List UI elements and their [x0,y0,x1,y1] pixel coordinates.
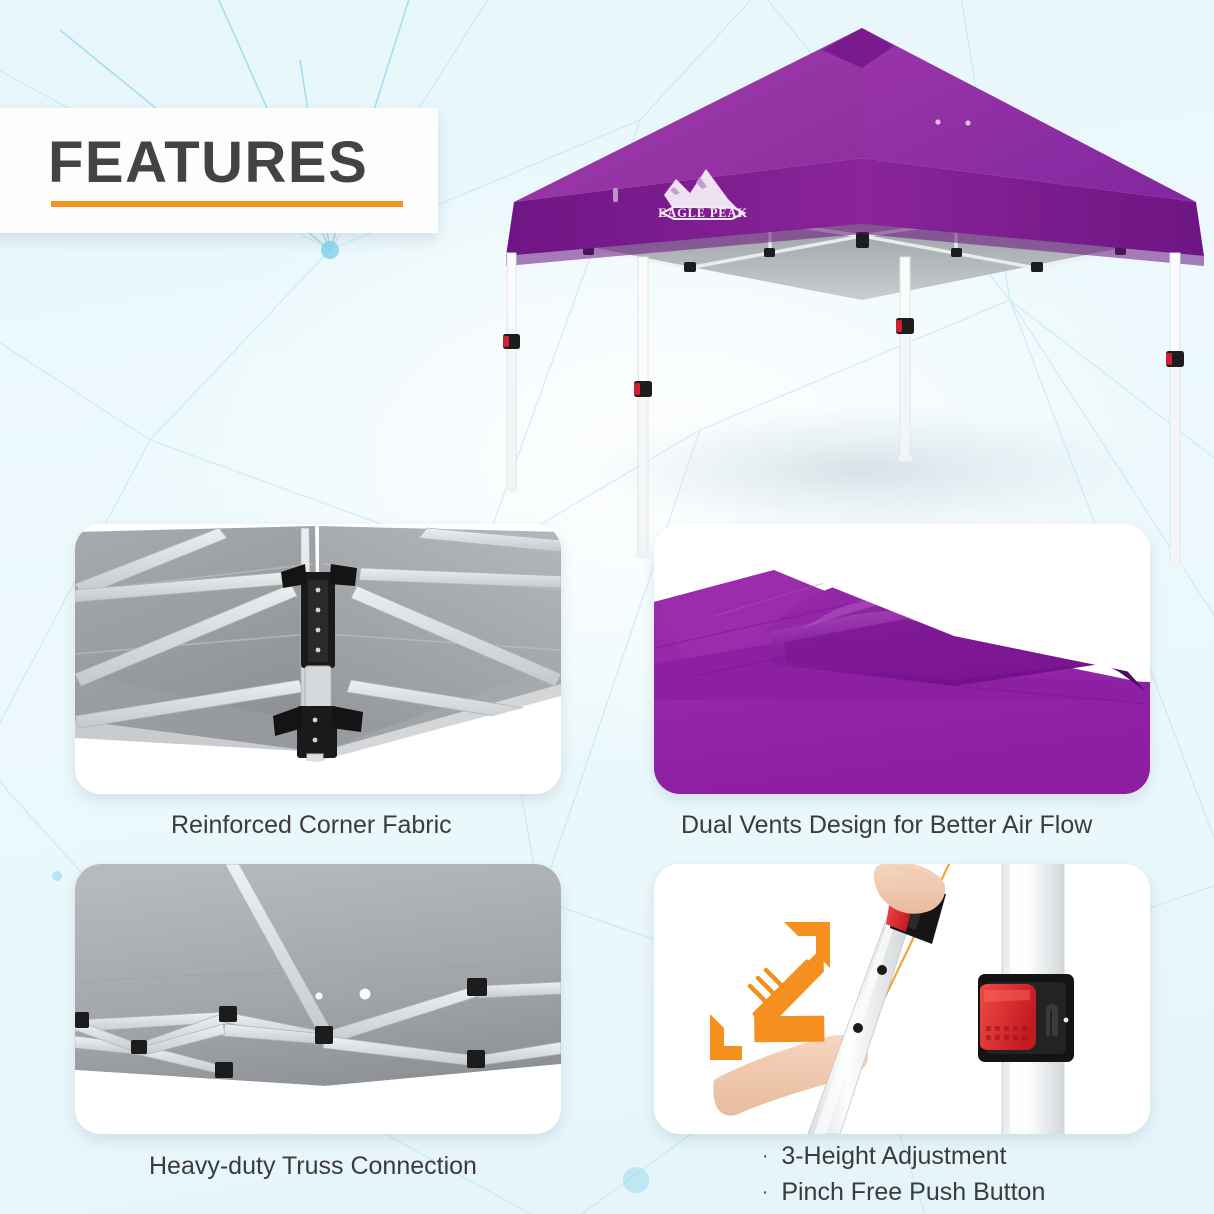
bullet-item: · Pinch Free Push Button [762,1175,1045,1211]
feature-panel-reinforced-corner [75,524,561,794]
leg-front-right [1166,253,1184,570]
bullet-label: 3-Height Adjustment [781,1139,1006,1175]
feature-panel-height-adjustment [654,864,1150,1134]
height-hole [853,1023,863,1033]
features-banner: FEATURES [0,108,438,233]
height-adjustment-photo [654,864,1150,1134]
reinforced-corner-photo [75,524,561,794]
caption-dual-vents: Dual Vents Design for Better Air Flow [681,809,1092,841]
leg-front-left [503,253,520,492]
tie-strap [613,188,618,202]
page-title: FEATURES [48,134,414,192]
caption-height-adjustment: · 3-Height Adjustment · Pinch Free Push … [762,1139,1045,1210]
infographic-root: FEATURES [0,0,1214,1214]
bullet-marker-icon: · [762,1147,768,1166]
hero-product-image: EAGLE PEAK [470,10,1210,600]
light-spot [315,992,322,999]
truss-connection-photo [75,864,561,1134]
feature-panel-dual-vents [654,524,1150,794]
ground-shadow [567,404,1157,536]
caption-reinforced-corner: Reinforced Corner Fabric [171,809,452,841]
light-spot [360,989,371,1000]
feature-panel-truss-connection [75,864,561,1134]
brand-logo-text: EAGLE PEAK [658,206,748,220]
dual-vents-photo [654,524,1150,794]
bullet-marker-icon: · [762,1183,768,1202]
bullet-label: Pinch Free Push Button [781,1175,1045,1211]
bullet-item: · 3-Height Adjustment [762,1139,1045,1175]
caption-truss-connection: Heavy-duty Truss Connection [149,1150,477,1182]
title-underline [51,201,403,207]
height-hole [877,965,887,975]
